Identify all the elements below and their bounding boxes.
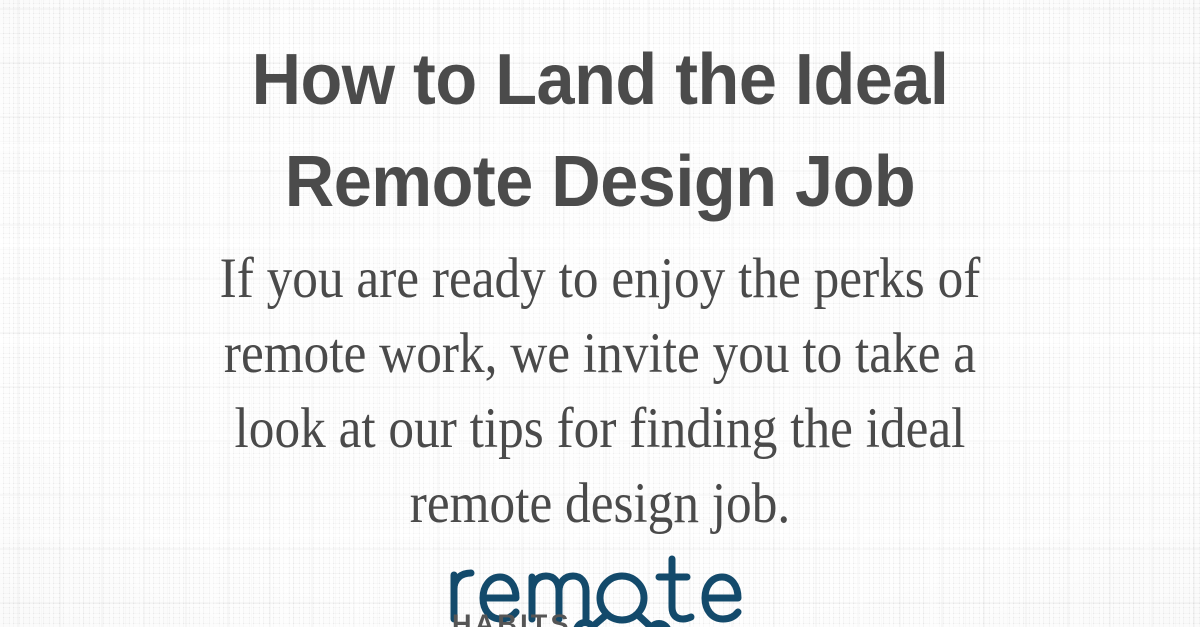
card-content: How to Land the Ideal Remote Design Job … [0,0,1200,627]
logo-node-small-right [650,624,669,627]
page-title: How to Land the Ideal Remote Design Job [30,0,1170,232]
logo-subword-habits: HABITS [452,609,572,627]
brand-logo-svg: HABITS [440,549,760,627]
social-share-card: How to Land the Ideal Remote Design Job … [0,0,1200,627]
page-subtitle-line-3: look at our tips for finding the ideal [60,391,1140,466]
logo-node-small-left [577,623,594,627]
brand-logo[interactable]: HABITS remote HABITS [440,549,760,627]
page-subtitle-line-2: remote work, we invite you to take a [60,316,1140,391]
page-subtitle-line-1: If you are ready to enjoy the perks of [60,241,1140,316]
page-subtitle-line-4: remote design job. [60,466,1140,541]
page-title-line-2: Remote Design Job [30,130,1170,232]
page-title-line-1: How to Land the Ideal [30,0,1170,130]
page-subtitle: If you are ready to enjoy the perks of r… [60,241,1140,541]
